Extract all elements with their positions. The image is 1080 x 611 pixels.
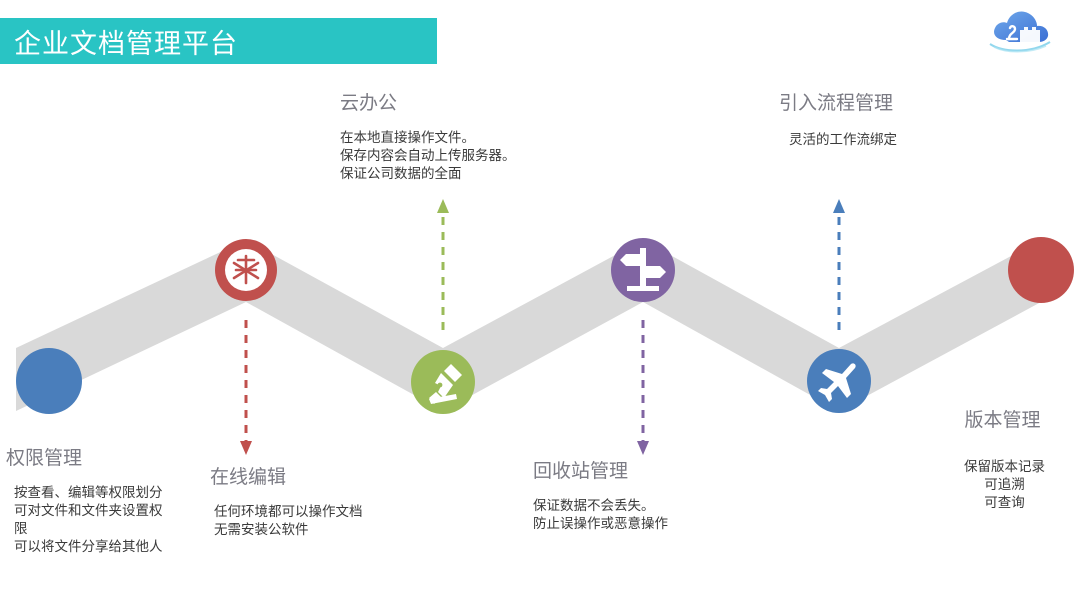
block-online-edit-heading: 在线编辑	[210, 462, 363, 489]
node-cloud-office[interactable]	[411, 350, 475, 414]
airplane-icon	[818, 363, 856, 402]
node-recycle[interactable]	[611, 238, 675, 302]
title-banner: 企业文档管理平台	[0, 18, 437, 64]
block-online-edit-line-1: 任何环境都可以操作文档	[214, 503, 363, 521]
block-permission-line-1: 按查看、编辑等权限划分	[14, 484, 163, 502]
block-version-line-2: 可追溯	[964, 476, 1045, 494]
block-permission-body: 按查看、编辑等权限划分 可对文件和文件夹设置权 限 可以将文件分享给其他人	[6, 484, 163, 556]
block-cloud-office-body: 在本地直接操作文件。 保存内容会自动上传服务器。 保证公司数据的全面	[340, 129, 516, 183]
block-version-heading: 版本管理	[960, 405, 1045, 432]
block-version: 版本管理 保留版本记录 可追溯 可查询	[960, 405, 1045, 512]
block-cloud-office-line-1: 在本地直接操作文件。	[340, 129, 516, 147]
block-version-body: 保留版本记录 可追溯 可查询	[960, 458, 1045, 512]
block-version-line-3: 可查询	[964, 494, 1045, 512]
connector-workflow-arrow	[833, 199, 845, 330]
block-recycle: 回收站管理 保证数据不会丢失。 防止误操作或恶意操作	[533, 456, 668, 533]
pen-nib-icon	[429, 364, 462, 404]
page-title: 企业文档管理平台	[0, 22, 238, 61]
block-online-edit-body: 任何环境都可以操作文档 无需安装公软件	[210, 503, 363, 539]
node-workflow[interactable]	[807, 349, 871, 413]
cloud-great-wall-logo	[976, 6, 1062, 58]
block-permission-heading: 权限管理	[6, 443, 163, 470]
block-workflow-body: 灵活的工作流绑定	[779, 131, 897, 149]
block-cloud-office: 云办公 在本地直接操作文件。 保存内容会自动上传服务器。 保证公司数据的全面	[340, 88, 516, 183]
block-recycle-heading: 回收站管理	[533, 456, 668, 483]
block-permission-line-4: 可以将文件分享给其他人	[14, 538, 163, 556]
network-web-icon	[225, 249, 267, 291]
block-cloud-office-line-2: 保存内容会自动上传服务器。	[340, 147, 516, 165]
block-workflow: 引入流程管理 灵活的工作流绑定	[779, 88, 897, 149]
node-permission[interactable]	[16, 348, 82, 414]
node-version[interactable]	[1008, 237, 1074, 303]
block-cloud-office-heading: 云办公	[340, 88, 516, 115]
signpost-icon	[620, 248, 666, 291]
block-recycle-body: 保证数据不会丢失。 防止误操作或恶意操作	[533, 497, 668, 533]
zigzag-ribbon	[16, 240, 1041, 411]
block-recycle-line-2: 防止误操作或恶意操作	[533, 515, 668, 533]
connector-cloud-office-arrow	[437, 199, 449, 330]
slide-canvas: 企业文档管理平台	[0, 0, 1080, 611]
block-online-edit: 在线编辑 任何环境都可以操作文档 无需安装公软件	[210, 462, 363, 539]
block-permission-line-3: 限	[14, 520, 163, 538]
block-cloud-office-line-3: 保证公司数据的全面	[340, 165, 516, 183]
block-recycle-line-1: 保证数据不会丢失。	[533, 497, 668, 515]
block-workflow-line-1: 灵活的工作流绑定	[789, 131, 897, 149]
connector-online-edit-arrow	[240, 320, 252, 455]
block-permission-line-2: 可对文件和文件夹设置权	[14, 502, 163, 520]
block-version-line-1: 保留版本记录	[964, 458, 1045, 476]
node-online-edit[interactable]	[215, 239, 277, 301]
block-workflow-heading: 引入流程管理	[779, 88, 897, 115]
block-permission: 权限管理 按查看、编辑等权限划分 可对文件和文件夹设置权 限 可以将文件分享给其…	[6, 443, 163, 556]
block-online-edit-line-2: 无需安装公软件	[214, 521, 363, 539]
connector-recycle-arrow	[637, 320, 649, 455]
